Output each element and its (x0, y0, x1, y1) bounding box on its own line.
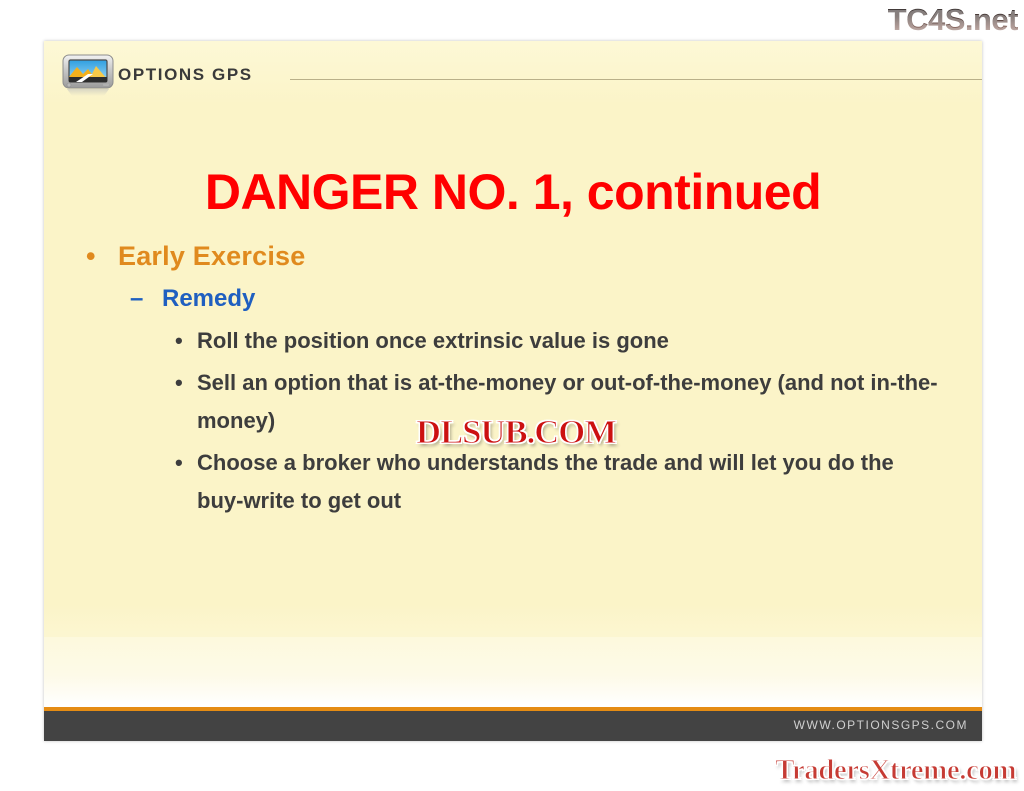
gps-device-icon (60, 53, 116, 97)
bullet-text: Choose a broker who understands the trad… (197, 444, 941, 520)
footer-url-text: www.OptionsGPS.com (794, 718, 968, 732)
bullet-marker-dot: • (175, 322, 197, 360)
presentation-slide: Options GPS DANGER NO. 1, continued • Ea… (44, 41, 982, 741)
slide-title: DANGER NO. 1, continued (44, 163, 982, 221)
header-divider (290, 79, 982, 80)
brand-wordmark: Options GPS (118, 65, 253, 85)
bullet-level3: • Roll the position once extrinsic value… (44, 322, 982, 360)
slide-body: • Early Exercise – Remedy • Roll the pos… (44, 239, 982, 524)
dlsub-watermark: DLSUB.COM (416, 414, 616, 452)
bullet-text: Roll the position once extrinsic value i… (197, 322, 941, 360)
bullet-text: Early Exercise (118, 239, 982, 273)
slide-footer-gradient (44, 637, 982, 707)
bullet-marker-dot: • (175, 444, 197, 482)
bullet-marker-dot: • (175, 364, 197, 402)
bullet-level3: • Choose a broker who understands the tr… (44, 444, 982, 520)
bullet-marker-dash: – (130, 283, 162, 314)
tc4s-site-brand: TC4S.net (888, 2, 1018, 38)
bullet-text: Remedy (162, 283, 982, 314)
bullet-marker-dot: • (86, 239, 118, 273)
slide-footer-bar: www.OptionsGPS.com (44, 711, 982, 741)
bullet-level1: • Early Exercise (44, 239, 982, 273)
slide-header: Options GPS (44, 41, 982, 99)
bullet-level2: – Remedy (44, 283, 982, 314)
tradersxtreme-brand: TradersXtreme.com (775, 754, 1016, 787)
